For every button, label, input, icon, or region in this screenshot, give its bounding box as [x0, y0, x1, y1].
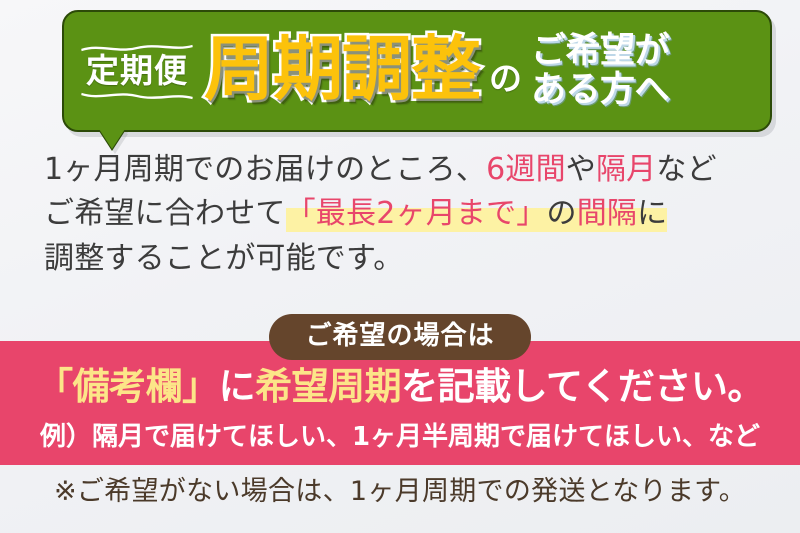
body-line-1-seg-3: や	[566, 152, 596, 187]
header-title: 周期調整	[204, 34, 480, 108]
request-case-badge: ご希望の場合は	[269, 314, 530, 360]
body-line-3: 調整することが可能です。	[44, 237, 760, 281]
subscription-badge: 定期便	[80, 45, 194, 98]
header-section: 定期便 周期調整 の ご希望が ある方へ	[0, 0, 800, 150]
body-line-2-seg-4: 間隔	[577, 196, 637, 232]
header-content: 定期便 周期調整 の ご希望が ある方へ	[62, 10, 772, 132]
pink-heading-seg-3: 希望周期	[255, 365, 401, 408]
footer-disclaimer: ※ご希望がない場合は、1ヶ月周期での発送となります。	[0, 478, 800, 505]
pink-heading-seg-1: 「備考欄」	[36, 365, 219, 408]
header-subtitle-line-2: ある方へ	[531, 71, 669, 110]
speech-bubble-tail-icon	[99, 129, 125, 149]
body-paragraph: 1ヶ月周期でのお届けのところ、6週間や隔月など ご希望に合わせて「最長2ヶ月まで…	[0, 148, 800, 281]
pill-badge-container: ご希望の場合は	[0, 314, 800, 360]
wavy-rule-bottom-icon	[80, 91, 194, 100]
body-line-2-seg-3: の	[547, 196, 577, 232]
body-line-1-seg-4: 隔月	[596, 152, 656, 187]
body-line-1-seg-5: など	[656, 152, 716, 187]
promo-banner: 定期便 周期調整 の ご希望が ある方へ 1ヶ月周期でのお届けのところ、6週間や…	[0, 0, 800, 533]
subscription-badge-label: 定期便	[86, 54, 188, 87]
body-line-2-seg-2: 「最長2ヶ月まで」	[286, 196, 547, 232]
body-line-3-seg-1: 調整することが可能です。	[44, 241, 403, 276]
body-line-2-seg-1: ご希望に合わせて	[44, 196, 286, 231]
body-line-1-seg-1: 1ヶ月周期でのお届けのところ、	[44, 152, 486, 187]
pink-heading-seg-2: に	[219, 365, 256, 408]
pink-callout-heading: 「備考欄」に希望周期を記載してください。	[0, 368, 800, 405]
body-line-1-seg-2: 6週間	[486, 152, 566, 187]
header-subtitle-block: ご希望が ある方へ	[531, 32, 669, 110]
header-title-particle: の	[489, 62, 522, 95]
header-subtitle-line-1: ご希望が	[531, 32, 669, 71]
body-line-2-seg-5: に	[637, 196, 667, 232]
wavy-rule-top-icon	[80, 44, 194, 53]
pink-heading-seg-4: を記載してください。	[401, 365, 764, 408]
body-line-1: 1ヶ月周期でのお届けのところ、6週間や隔月など	[44, 148, 760, 192]
pink-callout-examples: 例）隔月で届けてほしい、1ヶ月半周期で届けてほしい、など	[0, 424, 800, 450]
body-line-2: ご希望に合わせて「最長2ヶ月まで」の間隔に	[44, 192, 760, 236]
